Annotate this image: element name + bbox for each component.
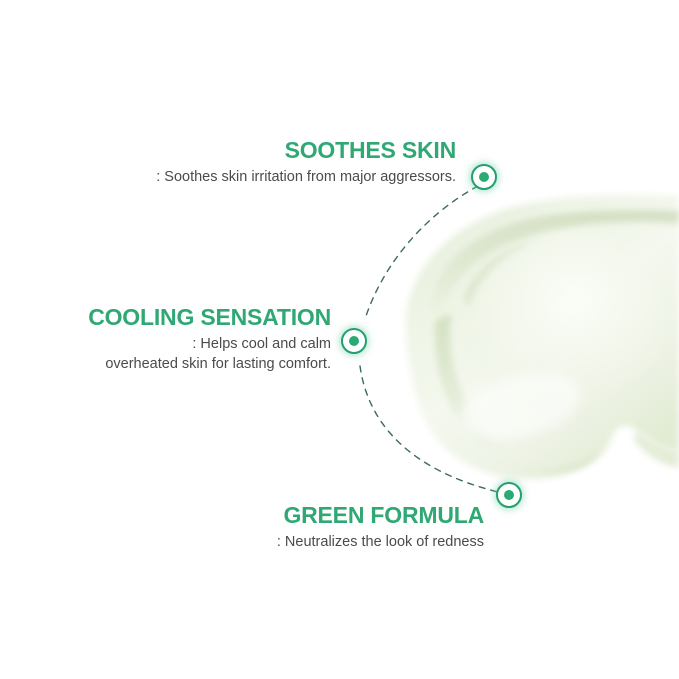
callout-body-line: : Neutralizes the look of redness	[150, 532, 484, 552]
callout-cooling-sensation: COOLING SENSATION : Helps cool and calm …	[40, 305, 331, 374]
cream-tail-notch	[634, 430, 679, 468]
callout-heading: SOOTHES SKIN	[80, 138, 456, 163]
cream-swirl-fold	[435, 314, 522, 461]
callout-body: : Soothes skin irritation from major agg…	[80, 167, 456, 187]
cream-body-shape	[406, 195, 679, 480]
callout-body: : Neutralizes the look of redness	[150, 532, 484, 552]
callout-green-formula: GREEN FORMULA : Neutralizes the look of …	[150, 503, 484, 552]
connector-path	[360, 186, 498, 492]
cream-bottom-shade	[445, 420, 618, 472]
marker-soothes-skin[interactable]	[471, 164, 497, 190]
cream-specular-patch	[453, 362, 588, 450]
callout-body-line: : Helps cool and calm	[40, 334, 331, 354]
marker-core-icon	[479, 172, 489, 182]
marker-green-formula[interactable]	[496, 482, 522, 508]
cream-inner-crease	[463, 238, 540, 306]
marker-core-icon	[504, 490, 514, 500]
cream-highlight	[425, 222, 665, 438]
marker-cooling-sensation[interactable]	[341, 328, 367, 354]
callout-heading: GREEN FORMULA	[150, 503, 484, 528]
infographic-canvas: SOOTHES SKIN : Soothes skin irritation f…	[0, 0, 679, 679]
marker-core-icon	[349, 336, 359, 346]
cream-rim-ridge	[430, 210, 679, 322]
callout-body: : Helps cool and calm overheated skin fo…	[40, 334, 331, 374]
callout-body-line: overheated skin for lasting comfort.	[40, 354, 331, 374]
callout-body-line: : Soothes skin irritation from major agg…	[80, 167, 456, 187]
callout-heading: COOLING SENSATION	[40, 305, 331, 330]
callout-soothes-skin: SOOTHES SKIN : Soothes skin irritation f…	[80, 138, 456, 187]
